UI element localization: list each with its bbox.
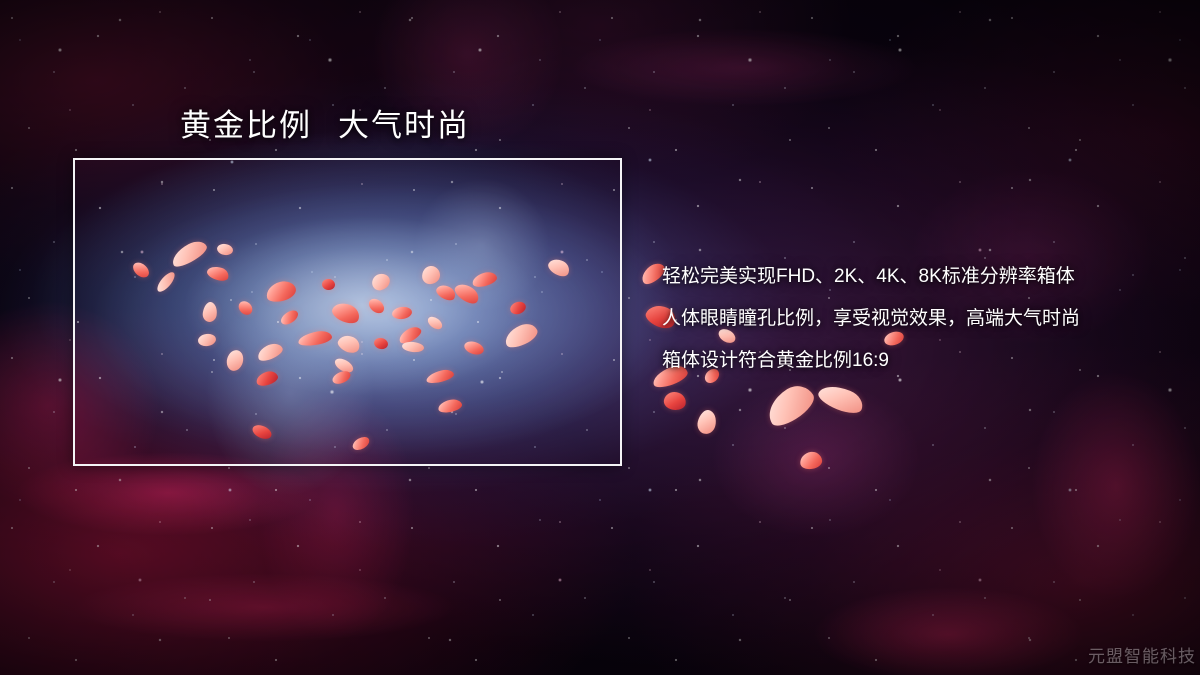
slide-canvas: 黄金比例大气时尚 轻松完美实现FHD、2K、4K、8K标准分辨率箱体 人体眼睛瞳… xyxy=(0,0,1200,675)
feature-description: 轻松完美实现FHD、2K、4K、8K标准分辨率箱体 人体眼睛瞳孔比例，享受视觉效… xyxy=(662,256,1182,382)
petal xyxy=(224,348,245,373)
petal xyxy=(168,237,210,270)
watermark-brand: 元盟智能科技 xyxy=(1088,642,1196,667)
panel-content xyxy=(73,158,622,466)
petal xyxy=(250,422,273,441)
petal xyxy=(471,270,499,289)
display-panel-frame xyxy=(73,158,622,466)
petal xyxy=(255,341,284,364)
description-line-3: 箱体设计符合黄金比例16:9 xyxy=(662,340,1182,382)
petal xyxy=(366,296,387,316)
petal xyxy=(761,379,819,431)
petal xyxy=(255,369,280,388)
petal xyxy=(421,265,441,285)
petal xyxy=(373,337,389,351)
panel-starfield-bright-icon xyxy=(73,158,622,466)
petal xyxy=(508,300,527,317)
petal xyxy=(206,264,231,283)
petal xyxy=(502,320,541,351)
panel-nebula-core xyxy=(73,158,622,466)
petal xyxy=(279,308,301,328)
petal xyxy=(264,279,298,305)
petal xyxy=(130,260,152,281)
panel-petal-layer xyxy=(73,158,622,466)
panel-starfield-medium-icon xyxy=(73,158,622,466)
petal xyxy=(434,282,458,303)
petal xyxy=(391,306,412,321)
petal xyxy=(154,270,177,295)
description-line-1: 轻松完美实现FHD、2K、4K、8K标准分辨率箱体 xyxy=(662,256,1182,298)
petal xyxy=(397,324,424,346)
petal xyxy=(426,314,445,331)
petal xyxy=(202,301,219,323)
page-title: 黄金比例大气时尚 xyxy=(180,100,470,145)
petal xyxy=(695,408,718,436)
petal xyxy=(331,369,353,387)
petal xyxy=(452,280,482,307)
panel-starfield-icon xyxy=(73,158,622,466)
petal xyxy=(371,272,392,291)
panel-nebula-filaments xyxy=(73,158,622,466)
petal xyxy=(321,278,335,291)
petal xyxy=(333,356,356,376)
petal xyxy=(350,434,371,453)
petal xyxy=(437,398,463,415)
panel-nebula-background xyxy=(73,158,622,466)
petal xyxy=(799,451,823,471)
petal xyxy=(216,243,234,257)
title-phrase-1: 黄金比例 xyxy=(180,108,312,143)
petal xyxy=(816,380,867,418)
petal xyxy=(463,339,486,357)
petal xyxy=(546,256,572,280)
description-line-2: 人体眼睛瞳孔比例，享受视觉效果，高端大气时尚 xyxy=(662,298,1182,340)
petal xyxy=(197,333,216,347)
petal xyxy=(425,368,455,385)
petal xyxy=(662,390,687,412)
petal xyxy=(297,329,333,348)
petal xyxy=(330,299,363,326)
petal xyxy=(236,298,255,317)
petal xyxy=(402,341,425,353)
petal xyxy=(336,332,363,356)
title-phrase-2: 大气时尚 xyxy=(338,108,470,143)
